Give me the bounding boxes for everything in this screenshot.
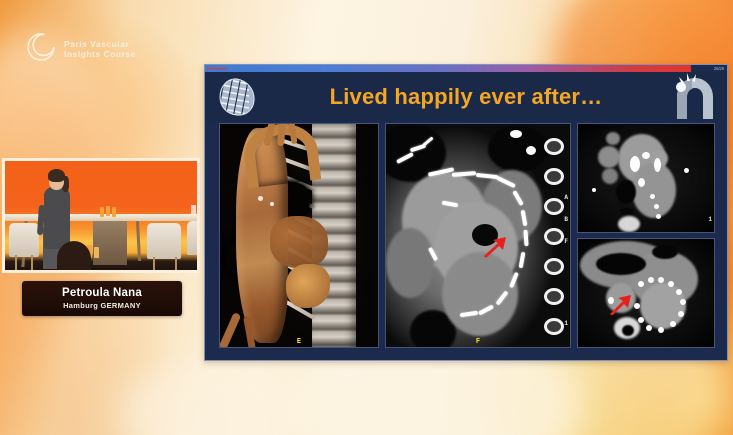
ct-panel-vr-reconstruction[interactable]: E	[219, 123, 379, 348]
speaker-location: Hamburg GERMANY	[63, 300, 141, 311]
chair	[147, 223, 181, 259]
bottle	[106, 206, 110, 216]
ct-image-grid: E	[219, 123, 715, 348]
calcification	[684, 168, 689, 173]
orientation-marker: F	[476, 339, 480, 346]
speaker-body	[44, 187, 70, 249]
chair-leg	[15, 255, 17, 273]
chair	[9, 223, 39, 257]
soft-tissue	[632, 162, 676, 218]
speaker-name-plate: Petroula Nana Hamburg GERMANY	[22, 281, 182, 316]
edge-letter: 1	[708, 216, 712, 223]
stent-calcification	[638, 281, 644, 287]
glass	[197, 205, 200, 214]
stent-calcification	[658, 327, 664, 333]
calcification	[258, 196, 263, 201]
stent-calcification	[646, 325, 652, 331]
vertebra	[544, 138, 564, 155]
vertebra	[544, 318, 564, 335]
brand-line-2: Insights Course	[64, 49, 136, 60]
soft-tissue	[386, 228, 434, 298]
speaker-video-thumbnail[interactable]	[2, 158, 200, 273]
presentation-slide[interactable]: Kennst es 26/29	[204, 64, 728, 361]
stent-calcification	[634, 303, 640, 309]
soft-tissue	[606, 132, 620, 145]
brand-line-1: Paris Vascular	[64, 39, 136, 50]
calcification	[270, 202, 274, 206]
vertebra	[544, 228, 564, 245]
chair	[187, 221, 200, 255]
speaker-hair	[48, 169, 65, 182]
stent-calcification	[676, 289, 682, 295]
red-arrow-annotation	[482, 236, 508, 258]
brand-logo: Paris Vascular Insights Course	[24, 30, 174, 68]
air-space	[620, 208, 634, 215]
vertebra	[544, 168, 564, 185]
calcification	[592, 188, 596, 192]
red-arrow-annotation	[608, 293, 632, 315]
ct-panel-axial-lower[interactable]	[577, 238, 715, 348]
aortic-arch-icon	[669, 73, 719, 121]
speaker-name: Petroula Nana	[62, 287, 142, 300]
ct-panel-mpr-reformat[interactable]: A B F 1 F	[385, 123, 571, 348]
stent-calcification	[630, 156, 640, 172]
air-space	[652, 245, 678, 259]
crescent-moon-icon	[24, 30, 58, 69]
slide-title: Lived happily ever after…	[205, 72, 727, 121]
soft-tissue	[598, 146, 620, 168]
bottle	[112, 207, 116, 217]
stent-calcification	[680, 299, 686, 305]
edge-letter: B	[564, 216, 568, 223]
stent-calcification	[654, 158, 661, 172]
stent-calcification	[650, 194, 655, 199]
spinal-canal	[622, 325, 634, 336]
organ-tissue	[270, 216, 328, 268]
edge-letter: A	[564, 194, 568, 201]
chair-leg	[153, 257, 155, 273]
ct-panel-axial-upper[interactable]: 1	[577, 123, 715, 233]
stent-calcification	[654, 204, 659, 209]
stent-calcification	[638, 317, 644, 323]
chair-leg	[175, 257, 177, 273]
stent-calcification	[648, 277, 654, 283]
vertebral-body	[618, 216, 640, 232]
stent-calcification	[678, 311, 684, 317]
vertebra	[544, 258, 564, 275]
brand-wordmark: Paris Vascular Insights Course	[64, 39, 136, 60]
trachea-air	[616, 180, 636, 204]
stent-calcification	[670, 321, 676, 327]
rib-cross-section	[526, 146, 536, 155]
audience-member-head	[57, 241, 91, 273]
stent-calcification	[668, 281, 674, 287]
ct-axial-column: 1	[577, 123, 715, 348]
air-space	[596, 253, 646, 275]
stent-calcification	[656, 214, 661, 219]
rib-cross-section	[510, 130, 522, 138]
stent-calcification	[638, 178, 645, 187]
orientation-marker: E	[297, 339, 301, 346]
progress-label: Kennst es	[207, 65, 227, 72]
chair-leg	[31, 255, 33, 273]
bottle	[94, 247, 99, 258]
vertebra	[544, 288, 564, 305]
slide-progress-bar[interactable]	[205, 65, 727, 72]
soft-tissue	[602, 168, 618, 184]
bottle	[100, 207, 104, 217]
edge-letter: 1	[564, 320, 568, 327]
vertebra	[544, 198, 564, 215]
organ-tissue	[286, 264, 330, 308]
stent-calcification	[642, 152, 650, 159]
edge-letter: F	[564, 238, 568, 245]
glass	[191, 205, 196, 214]
page-indicator: 26/29	[714, 65, 724, 72]
stent-calcification	[658, 277, 664, 283]
